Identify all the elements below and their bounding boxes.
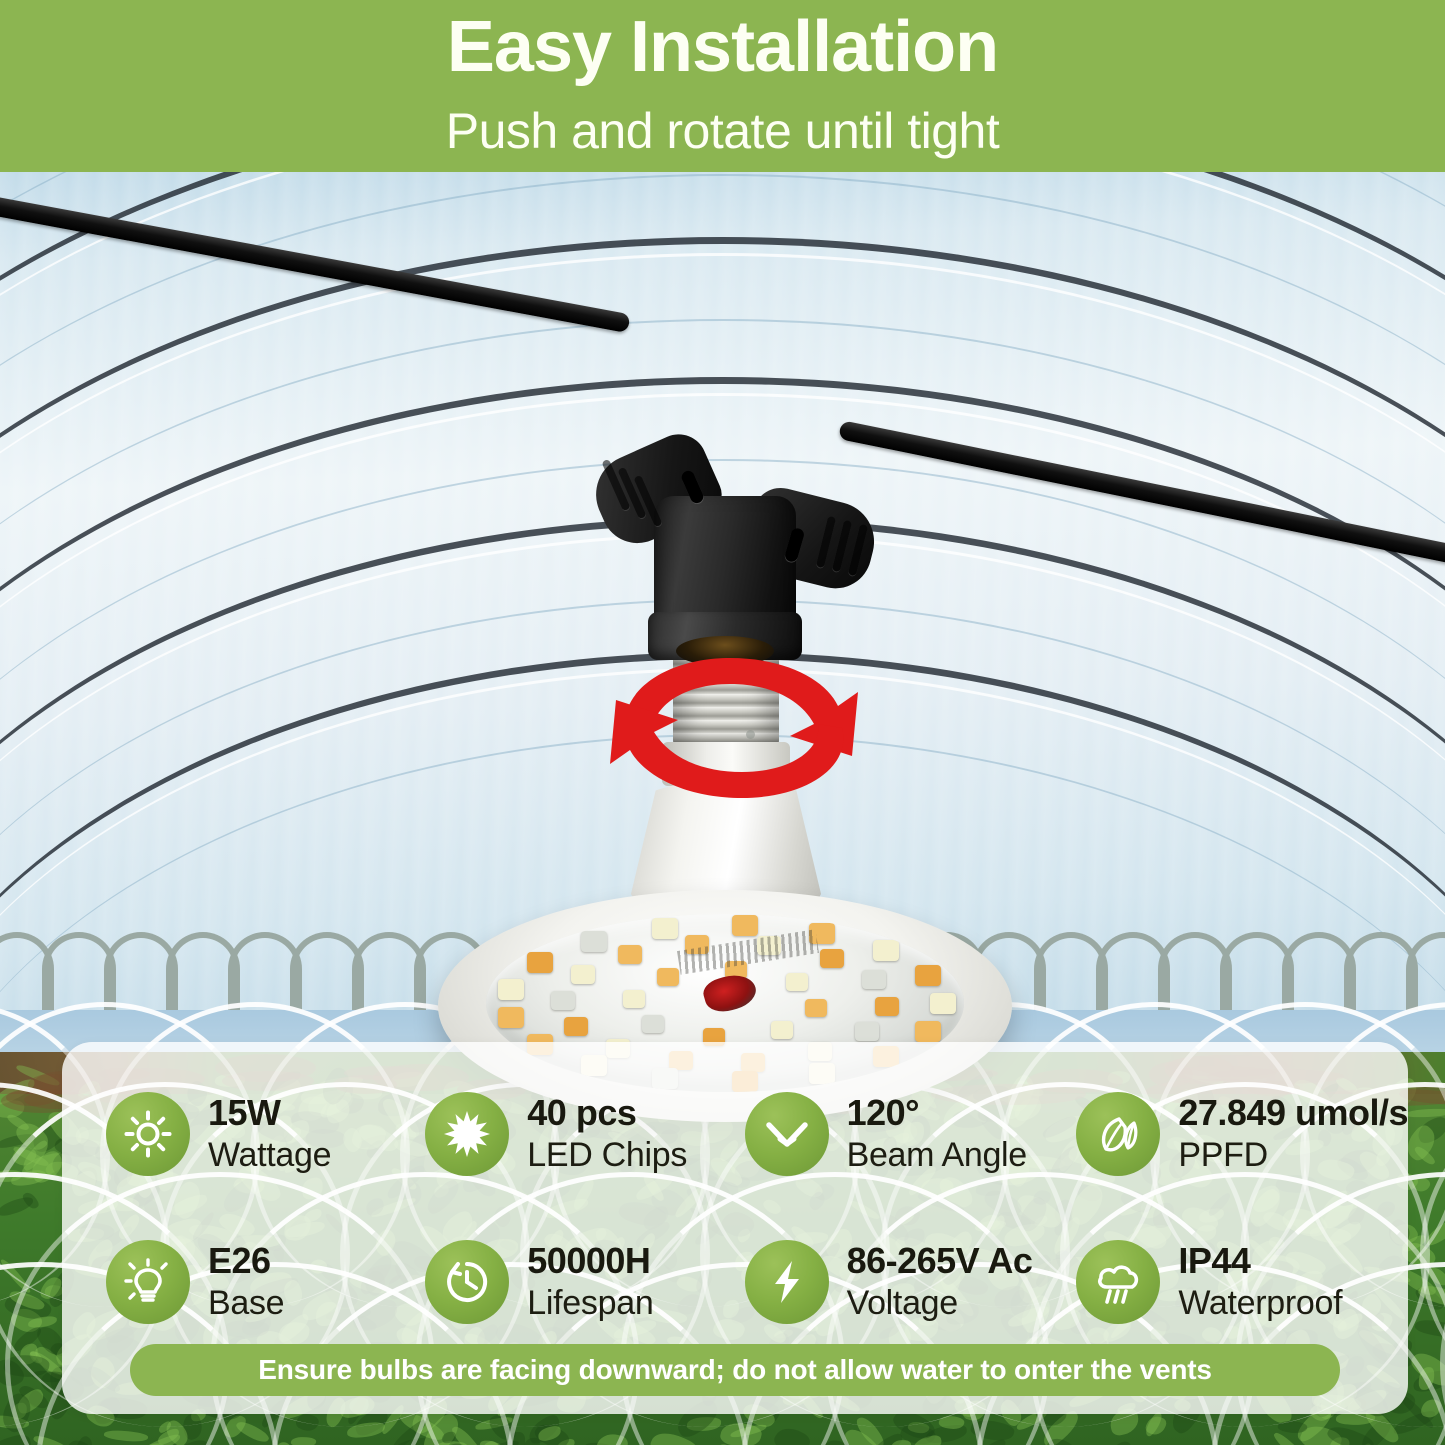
spec-label: Base [208, 1285, 284, 1322]
spec-text: 50000H Lifespan [527, 1242, 653, 1322]
leaves-icon [1076, 1092, 1160, 1176]
led-chip [551, 991, 575, 1010]
foliage-speck [771, 1423, 813, 1445]
led-chip [915, 965, 941, 986]
page-title: Easy Installation [0, 6, 1445, 89]
spec-value: 15W [208, 1094, 331, 1133]
foliage-speck [0, 1257, 32, 1296]
spec-item: E26 Base [62, 1208, 381, 1356]
spec-text: 27.849 umol/s PPFD [1178, 1094, 1408, 1174]
warning-note-text: Ensure bulbs are facing downward; do not… [258, 1354, 1211, 1386]
led-chip [527, 952, 553, 973]
led-chip [571, 965, 595, 984]
spec-label: PPFD [1178, 1137, 1408, 1174]
led-chip [618, 945, 642, 964]
spec-text: 120° Beam Angle [847, 1094, 1027, 1174]
spec-value: E26 [208, 1242, 284, 1281]
spec-value: 27.849 umol/s [1178, 1094, 1408, 1133]
beam-angle-icon [745, 1092, 829, 1176]
spec-label: Waterproof [1178, 1285, 1342, 1322]
foliage-speck [33, 1433, 67, 1445]
page-subtitle: Push and rotate until tight [0, 104, 1445, 159]
bulb-icon [106, 1240, 190, 1324]
lamp-socket [640, 440, 808, 658]
spec-value: 120° [847, 1094, 1027, 1133]
led-chip [771, 1021, 793, 1039]
spec-label: Lifespan [527, 1285, 653, 1322]
led-chip [652, 918, 678, 939]
spec-label: Voltage [847, 1285, 1033, 1322]
spec-item: 120° Beam Angle [701, 1060, 1033, 1208]
specifications-panel: 15W Wattage 40 pcs LED Chips 120° Beam A… [62, 1042, 1408, 1414]
spec-text: 40 pcs LED Chips [527, 1094, 687, 1174]
clock-icon [425, 1240, 509, 1324]
foliage-speck [347, 1421, 386, 1438]
led-chip [820, 949, 844, 968]
spec-label: Beam Angle [847, 1137, 1027, 1174]
spec-label: LED Chips [527, 1137, 687, 1174]
spec-label: Wattage [208, 1137, 331, 1174]
spec-text: IP44 Waterproof [1178, 1242, 1342, 1322]
led-chip [642, 1015, 664, 1033]
spec-value: 86-265V Ac [847, 1242, 1033, 1281]
led-chip [915, 1021, 941, 1042]
led-chip [855, 1022, 879, 1041]
spec-text: E26 Base [208, 1242, 284, 1322]
bulb-center-component [700, 969, 759, 1016]
rain-cloud-icon [1076, 1240, 1160, 1324]
spec-text: 15W Wattage [208, 1094, 331, 1174]
led-chip [786, 973, 808, 991]
rotation-arrows-icon [590, 640, 880, 810]
led-chip [862, 970, 886, 989]
spec-item: IP44 Waterproof [1032, 1208, 1408, 1356]
spec-value: 40 pcs [527, 1094, 687, 1133]
led-chip [930, 993, 956, 1014]
specifications-grid: 15W Wattage 40 pcs LED Chips 120° Beam A… [62, 1060, 1408, 1356]
led-chip [873, 940, 899, 961]
warning-note-banner: Ensure bulbs are facing downward; do not… [130, 1344, 1340, 1396]
foliage-speck [1414, 1316, 1445, 1341]
spec-value: 50000H [527, 1242, 653, 1281]
foliage-speck [1422, 1214, 1445, 1248]
spec-item: 50000H Lifespan [381, 1208, 700, 1356]
header-banner: Easy Installation Push and rotate until … [0, 0, 1445, 172]
led-chip [875, 997, 899, 1016]
spec-item: 86-265V Ac Voltage [701, 1208, 1033, 1356]
lightning-bolt-icon [745, 1240, 829, 1324]
led-chip [581, 931, 607, 952]
spec-value: IP44 [1178, 1242, 1342, 1281]
led-chip [498, 1007, 524, 1028]
led-chip [732, 915, 758, 936]
led-chip [498, 979, 524, 1000]
spec-item: 27.849 umol/s PPFD [1032, 1060, 1408, 1208]
led-chip [657, 968, 679, 986]
led-chip [564, 1017, 588, 1036]
sun-outline-icon [106, 1092, 190, 1176]
led-chip [623, 990, 645, 1008]
spec-text: 86-265V Ac Voltage [847, 1242, 1033, 1322]
spec-item: 15W Wattage [62, 1060, 381, 1208]
sun-filled-icon [425, 1092, 509, 1176]
foliage-speck [595, 1431, 629, 1445]
foliage-speck [1104, 1439, 1137, 1445]
foliage-speck [0, 1432, 34, 1445]
foliage-speck [104, 1428, 149, 1444]
spec-item: 40 pcs LED Chips [381, 1060, 700, 1208]
foliage-speck [290, 1436, 316, 1445]
led-chip [805, 999, 827, 1017]
infographic-page: Easy Installation Push and rotate until … [0, 0, 1445, 1445]
